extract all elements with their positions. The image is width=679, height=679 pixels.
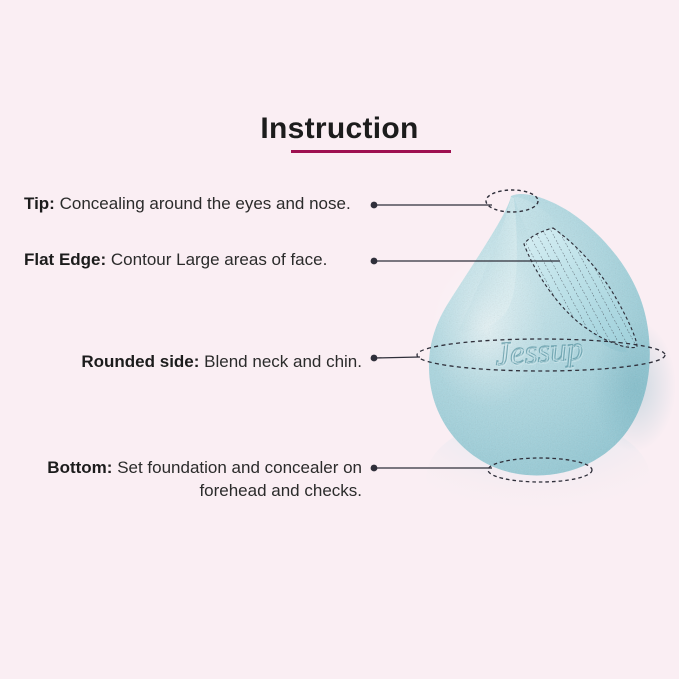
callout-flat-edge-description: Contour Large areas of face. (111, 250, 327, 269)
instruction-page: Instruction (0, 0, 679, 679)
callout-rounded-side-description: Blend neck and chin. (204, 352, 362, 371)
callout-flat-edge-term: Flat Edge: (24, 250, 106, 269)
callout-flat-edge: Flat Edge: Contour Large areas of face. (24, 248, 327, 271)
leader-line-rounded-side (371, 355, 420, 362)
product-illustration: Jessup Jessup (0, 0, 679, 679)
callout-tip: Tip: Concealing around the eyes and nose… (24, 192, 351, 215)
callout-rounded-side: Rounded side: Blend neck and chin. (24, 350, 362, 373)
callout-tip-description: Concealing around the eyes and nose. (60, 194, 351, 213)
callout-bottom-description-line2: forehead and checks. (199, 481, 362, 500)
callout-bottom-description-line1: Set foundation and concealer on (117, 458, 362, 477)
callout-bottom-term: Bottom: (47, 458, 112, 477)
callout-rounded-side-term: Rounded side: (81, 352, 199, 371)
callout-bottom: Bottom: Set foundation and concealer on … (24, 456, 362, 502)
brand-emboss: Jessup Jessup (494, 331, 585, 375)
callout-tip-term: Tip: (24, 194, 55, 213)
leader-line-tip (371, 202, 492, 209)
